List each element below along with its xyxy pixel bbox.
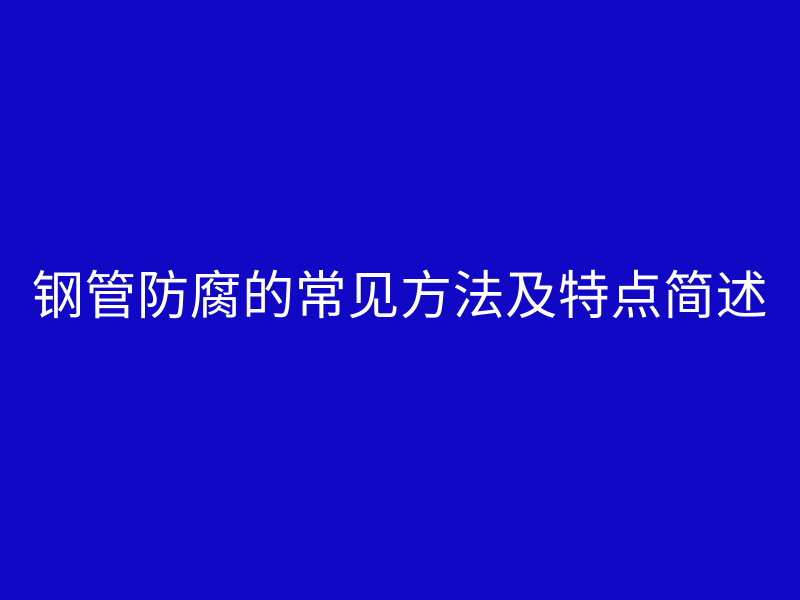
title-block: 钢管防腐的常见方法及特点简述	[32, 274, 768, 326]
slide-title: 钢管防腐的常见方法及特点简述	[32, 271, 768, 323]
slide-canvas: 钢管防腐的常见方法及特点简述	[0, 0, 800, 600]
